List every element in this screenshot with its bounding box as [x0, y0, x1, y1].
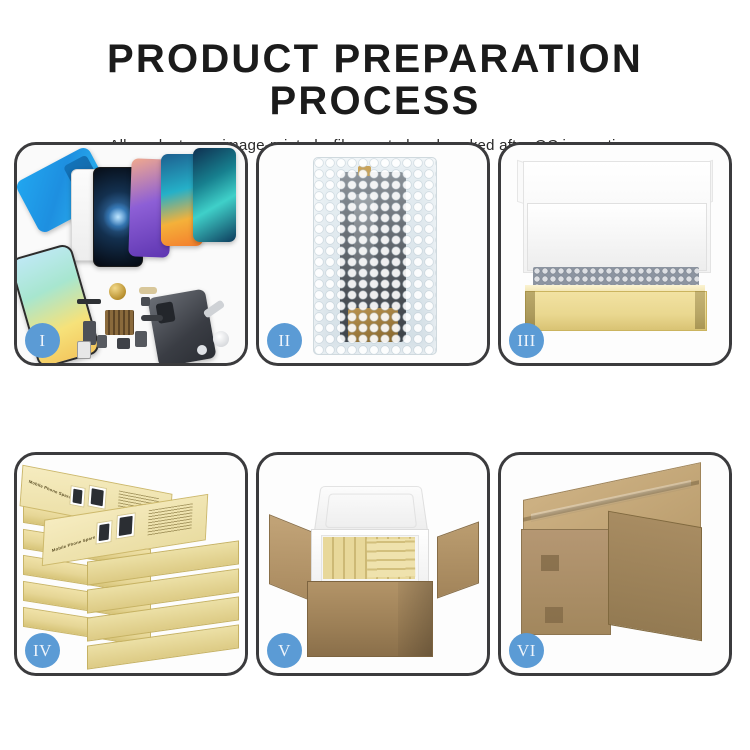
carton-tape-patch [545, 607, 563, 623]
box-label-lines [147, 503, 192, 536]
part-strip [77, 299, 101, 304]
part-screw [197, 345, 207, 355]
box-label-window [95, 520, 112, 545]
step-panel-4: Mobile Phone Spare Parts Mobile Phone Sp… [14, 452, 248, 676]
step-badge-2: II [267, 323, 302, 358]
phone-green-screen [193, 148, 236, 242]
page-header: PRODUCT PREPARATION PROCESS All products… [0, 0, 750, 155]
yellow-box-base [525, 291, 707, 331]
box-lid-front [527, 203, 707, 271]
step-badge-1: I [25, 323, 60, 358]
box-corner-right [695, 291, 705, 329]
process-step-grid: I II III [14, 142, 736, 676]
page-title: PRODUCT PREPARATION PROCESS [0, 0, 750, 122]
step-panel-6: VI [498, 452, 732, 676]
part-small-chip [141, 297, 150, 306]
step-panel-2: II [256, 142, 490, 366]
carton-tape-patch [541, 555, 559, 571]
carton-front-face [521, 529, 611, 635]
part-module [97, 335, 107, 348]
bubble-texture [314, 158, 436, 354]
step-panel-3: III [498, 142, 732, 366]
part-gold-disc [109, 283, 126, 300]
part-lens [213, 331, 229, 347]
part-speaker [117, 338, 130, 349]
box-label-window [116, 512, 136, 539]
step-panel-5: V [256, 452, 490, 676]
step-badge-3: III [509, 323, 544, 358]
part-chip-grid [105, 310, 134, 335]
part-flex-connector [139, 287, 157, 294]
step-badge-5: V [267, 633, 302, 668]
step-badge-6: VI [509, 633, 544, 668]
part-camera [135, 331, 147, 347]
carton-side-face [608, 511, 702, 642]
carton-body [307, 581, 433, 657]
yellow-boxes-inside [367, 539, 416, 578]
bubble-wrap-bag [313, 157, 437, 355]
part-ribbon-cable [141, 315, 163, 321]
step-panel-1: I [14, 142, 248, 366]
box-label-window [87, 485, 107, 510]
part-sim-tray [77, 341, 91, 359]
box-label-window [69, 485, 85, 508]
step-badge-4: IV [25, 633, 60, 668]
